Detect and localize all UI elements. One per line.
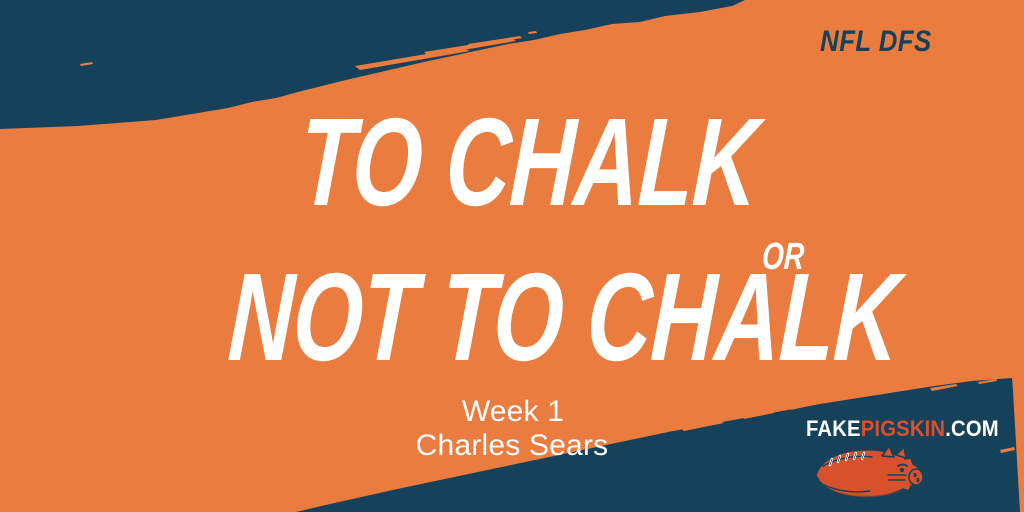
pigskin-mascot-icon <box>810 444 928 502</box>
site-logo[interactable]: FAKEPIGSKIN.COM <box>806 418 986 504</box>
logo-wordmark: FAKEPIGSKIN.COM <box>806 418 999 440</box>
logo-wordmark-pigskin: PIGSKIN <box>861 416 946 441</box>
logo-wordmark-fake: FAKE <box>806 416 861 441</box>
logo-wordmark-com: .COM <box>945 416 999 441</box>
headline-line-1: TO CHALK <box>297 100 761 225</box>
headline-line-2: NOT TO CHALK <box>226 255 902 380</box>
banner-graphic: NFL DFS TO CHALK OR NOT TO CHALK Week 1 … <box>0 0 1024 512</box>
kicker-label: NFL DFS <box>821 27 932 57</box>
